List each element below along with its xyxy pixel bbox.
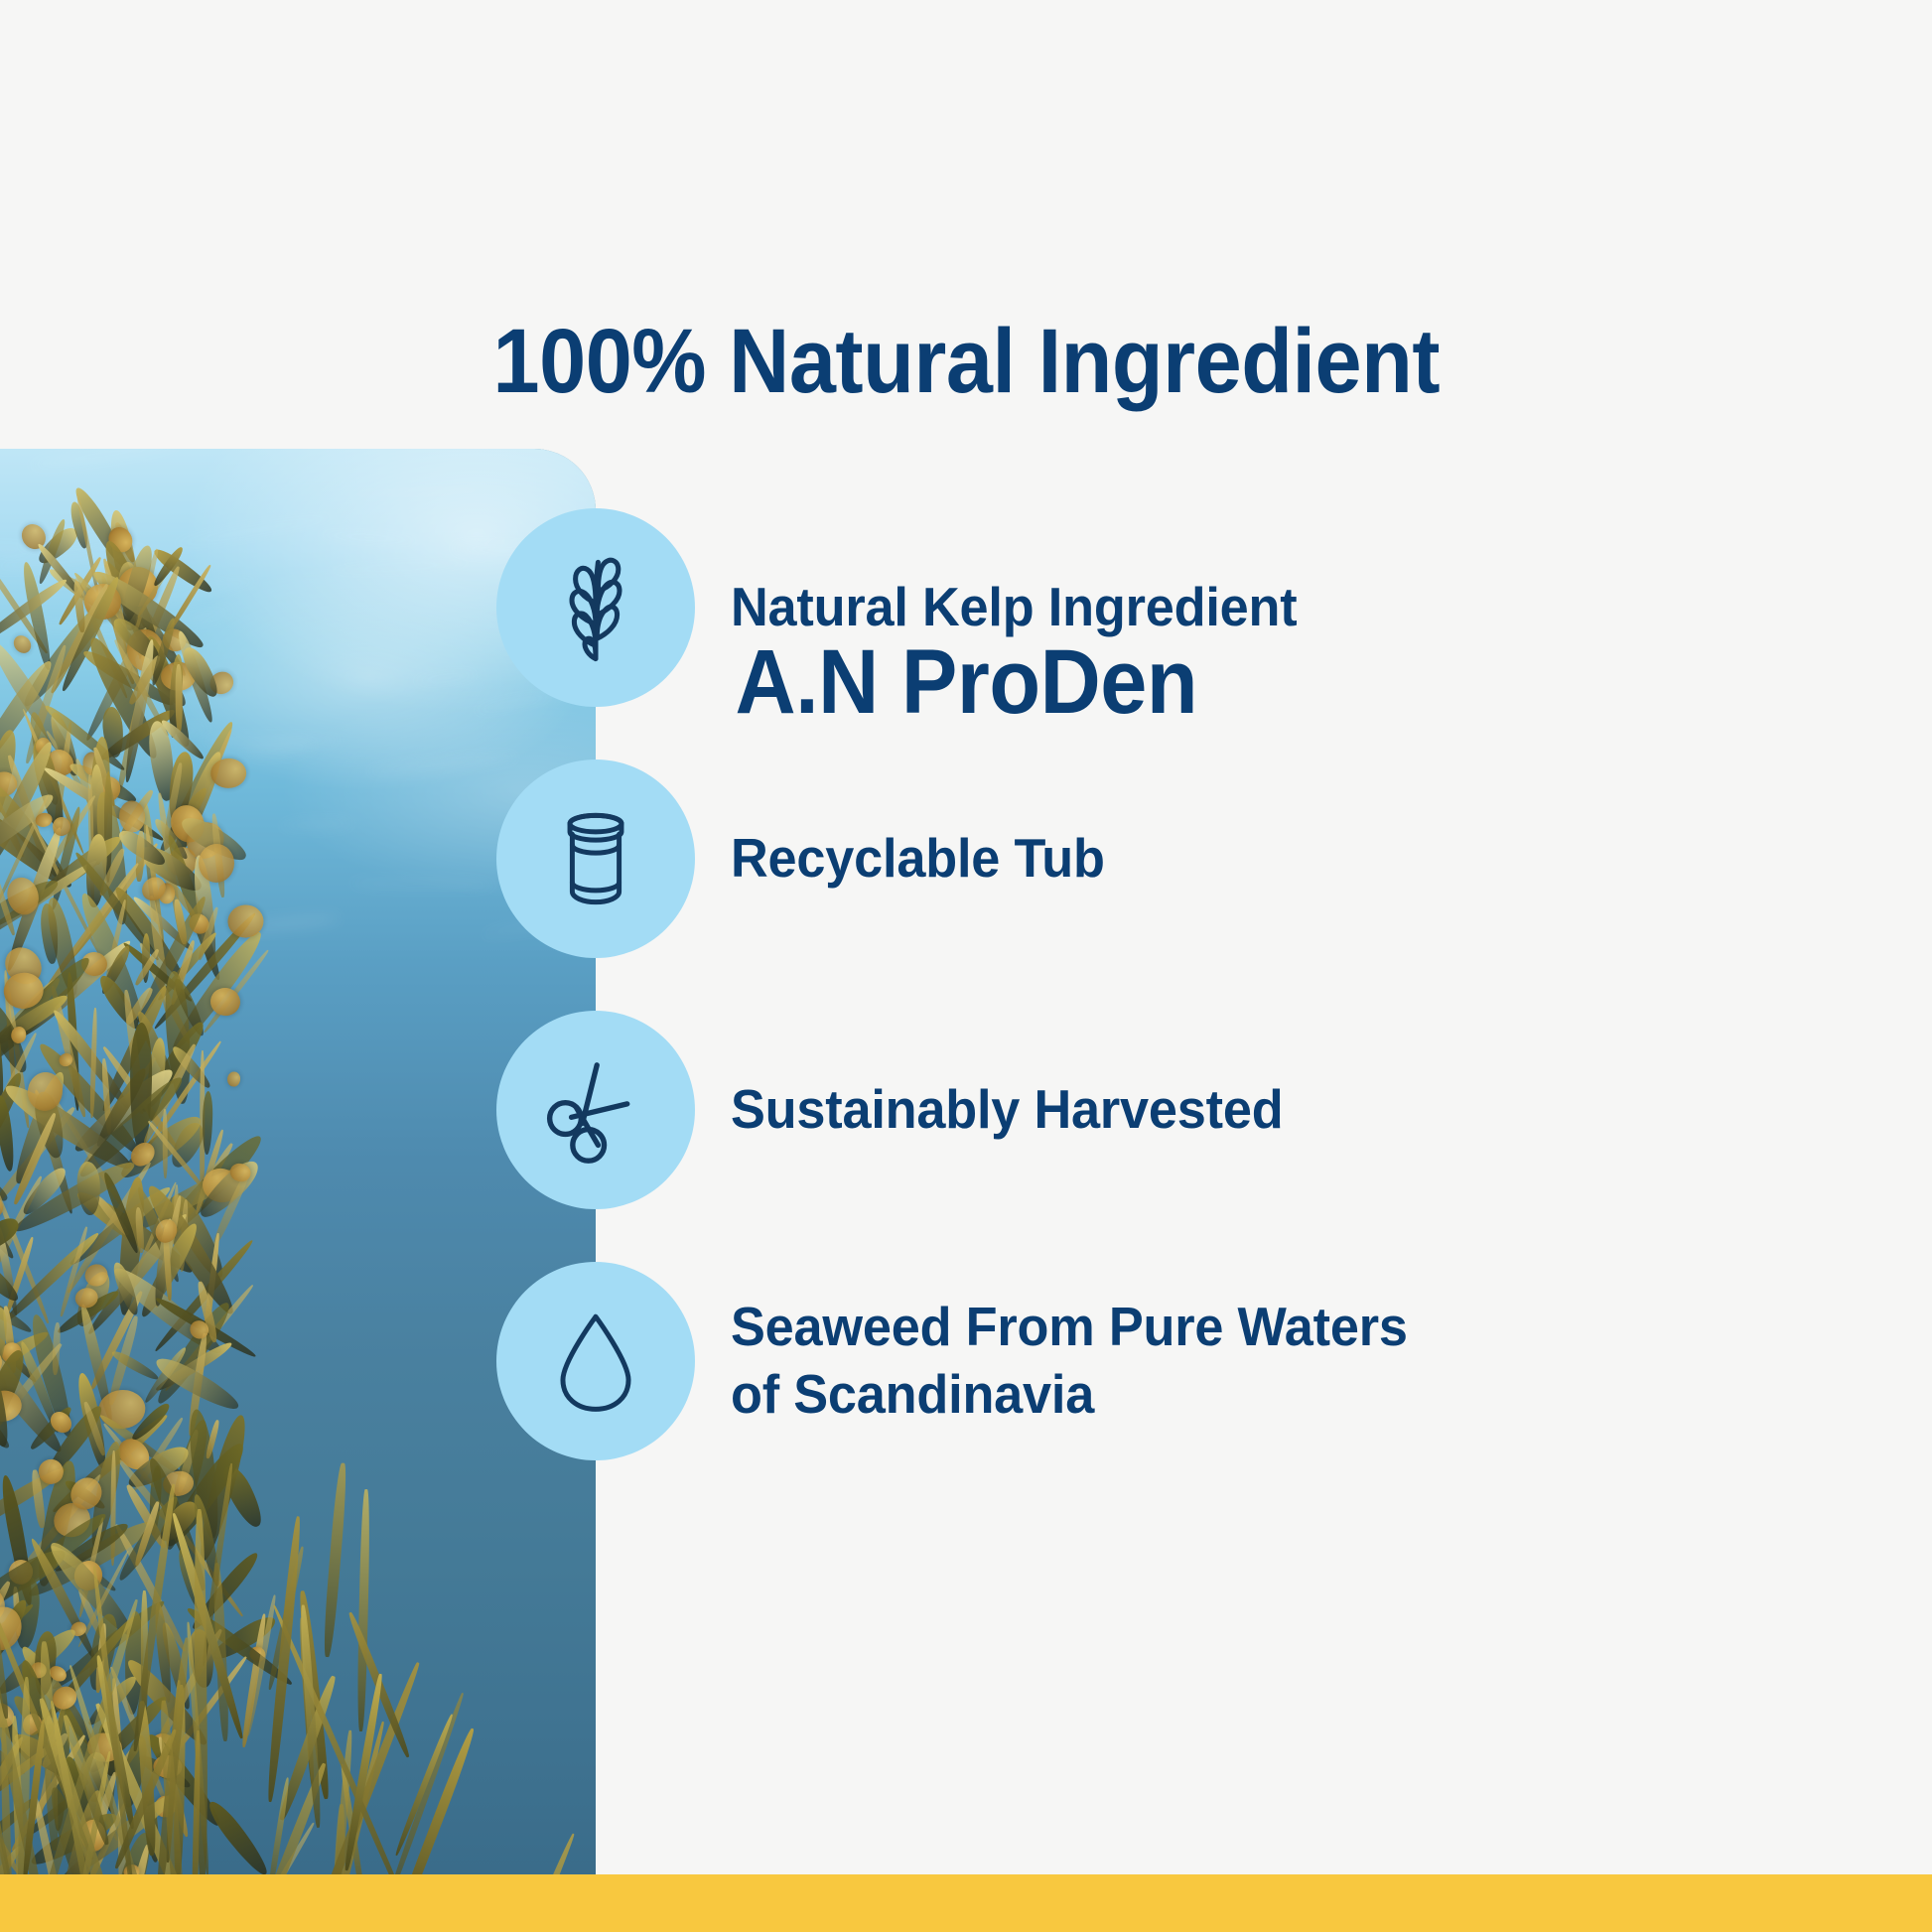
feature-label: Seaweed From Pure Waters of Scandinavia xyxy=(731,1294,1408,1427)
tub-jar-icon xyxy=(537,800,654,917)
feature-label: Recyclable Tub xyxy=(731,825,1105,892)
scissors-icon xyxy=(535,1049,656,1171)
kelp-seaweed-illustration xyxy=(0,449,496,1874)
footer-accent-bar xyxy=(0,1874,1932,1932)
feature-label: Natural Kelp Ingredient xyxy=(731,574,1297,640)
feature-item-recyclable-tub: Recyclable Tub xyxy=(496,733,1886,984)
feature-icon-badge xyxy=(496,759,695,958)
feature-label: Sustainably Harvested xyxy=(731,1076,1283,1143)
header: 100% Natural Ingredient A.N ProDen xyxy=(0,0,1932,449)
water-drop-icon xyxy=(537,1303,654,1420)
feature-item-natural-kelp-ingredient: Natural Kelp Ingredient xyxy=(496,482,1886,733)
feature-item-seaweed-pure-waters: Seaweed From Pure Waters of Scandinavia xyxy=(496,1235,1886,1486)
feature-icon-badge xyxy=(496,1011,695,1209)
feature-icon-badge xyxy=(496,508,695,707)
kelp-frond-icon xyxy=(536,548,655,667)
feature-icon-badge xyxy=(496,1262,695,1460)
page-title-line-1: 100% Natural Ingredient xyxy=(492,309,1440,416)
feature-item-sustainably-harvested: Sustainably Harvested xyxy=(496,984,1886,1235)
feature-list: Natural Kelp Ingredient Recyclable Tub xyxy=(496,482,1886,1486)
